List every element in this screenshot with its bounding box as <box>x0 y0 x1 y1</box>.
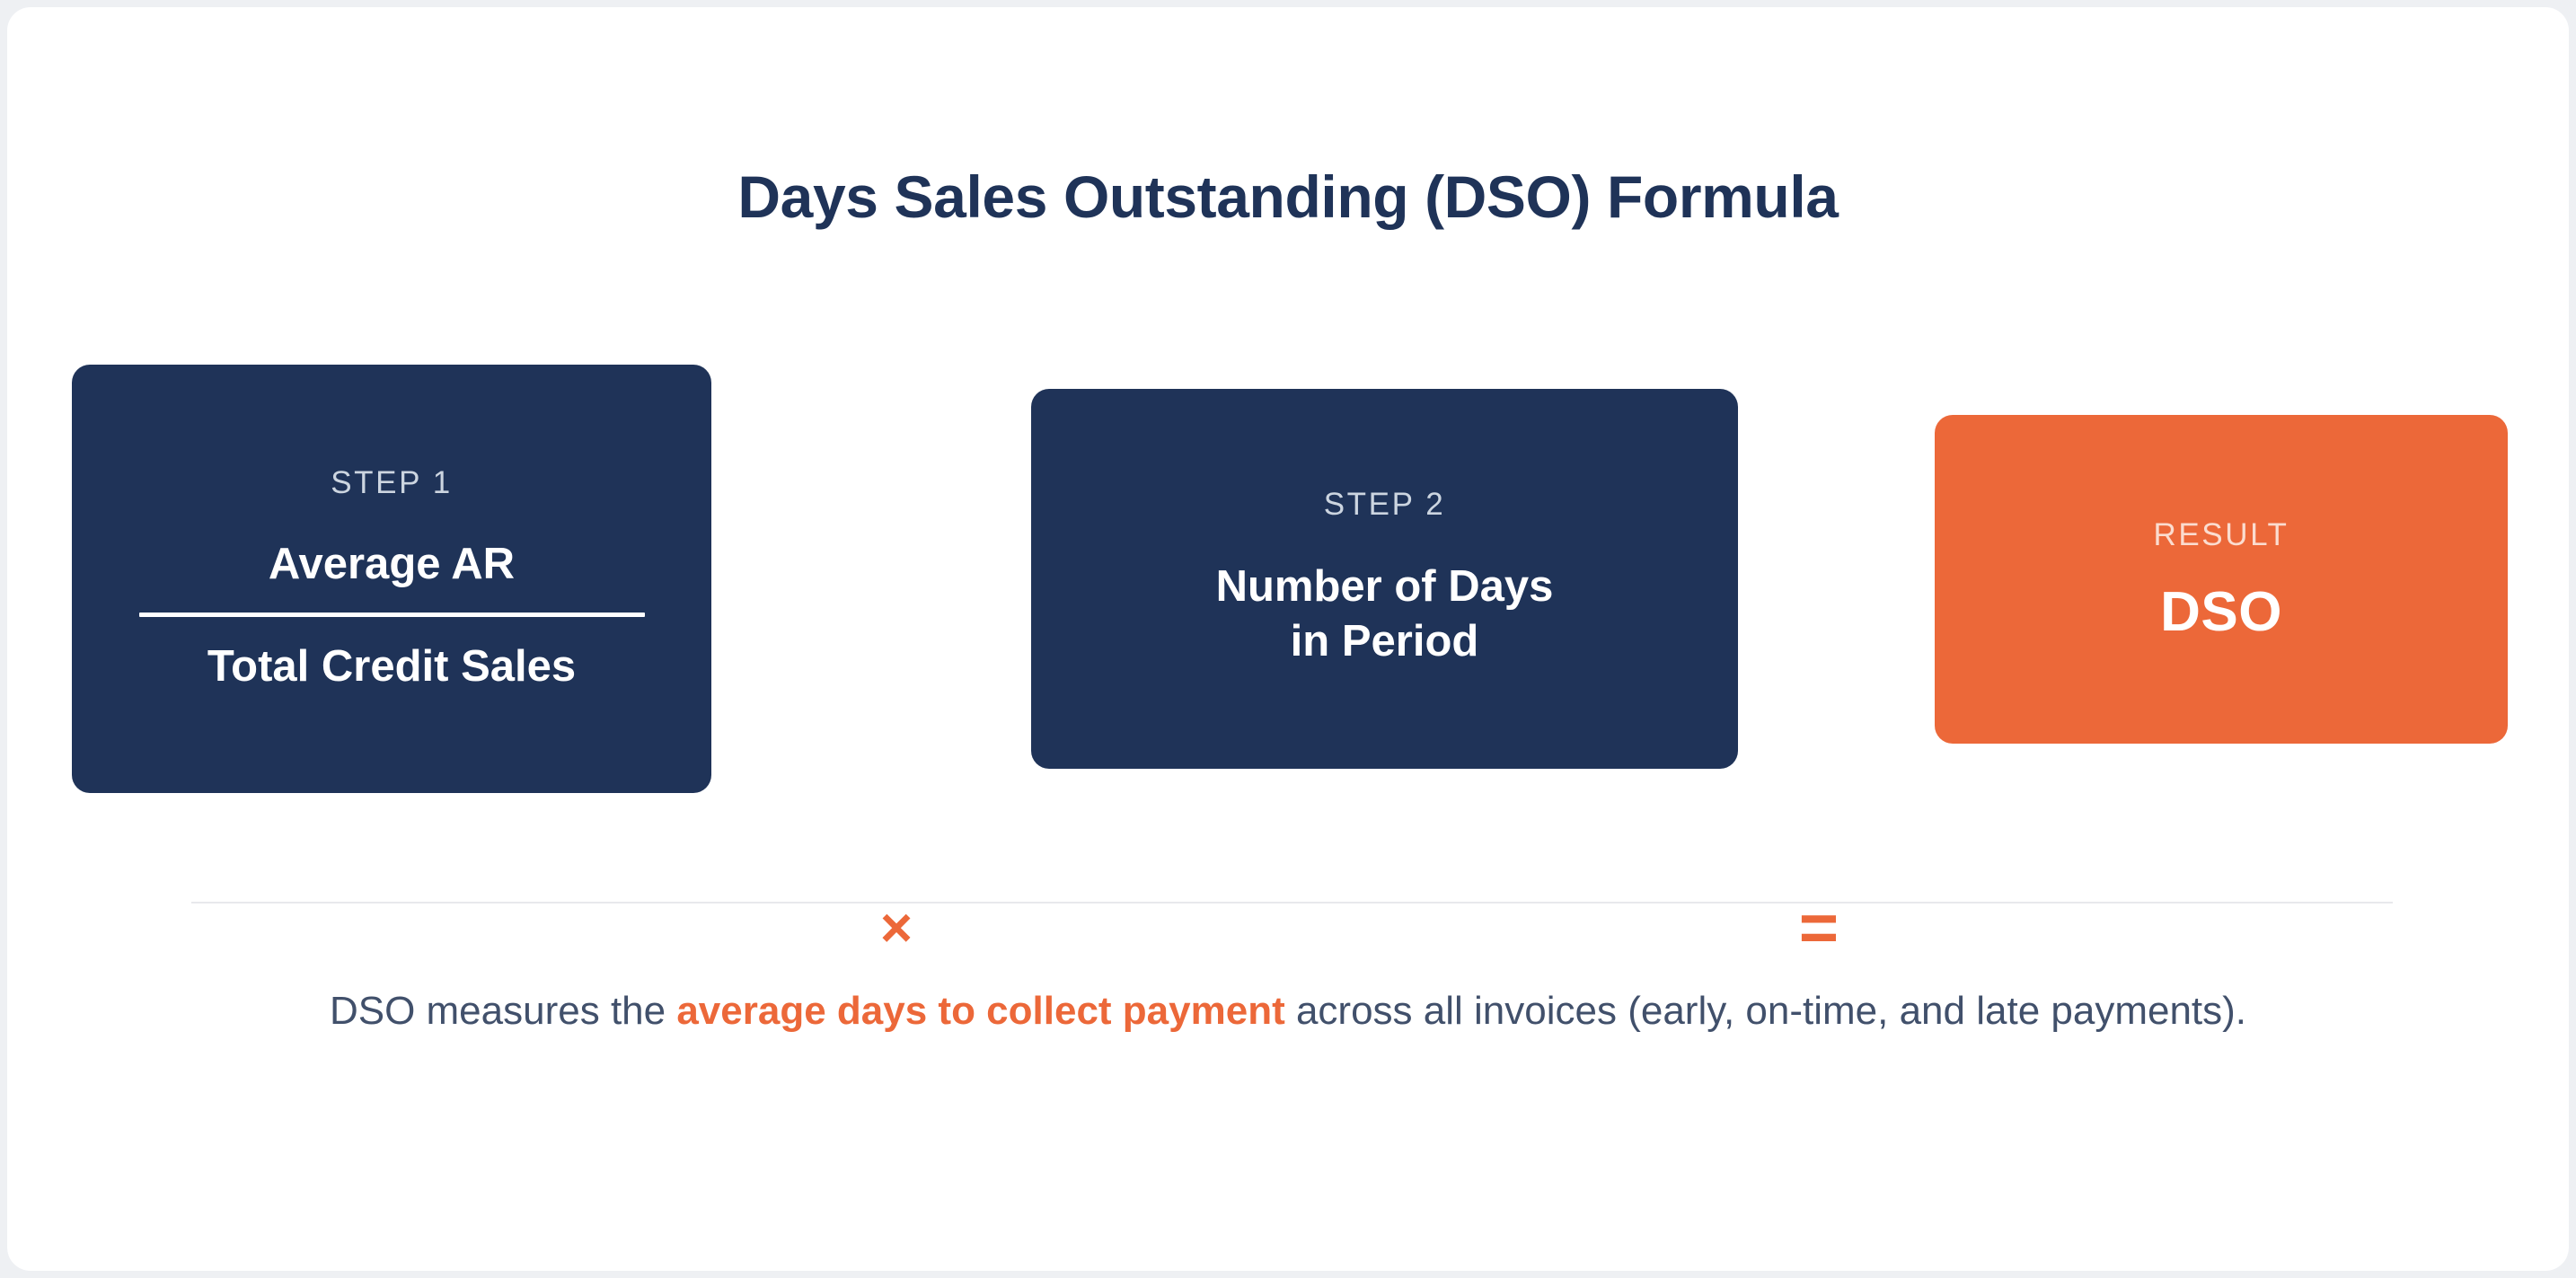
equals-icon: = <box>1769 895 1868 963</box>
page-title: Days Sales Outstanding (DSO) Formula <box>7 167 2569 226</box>
fraction-bar-icon <box>139 613 645 617</box>
result-card: RESULT DSO <box>1935 415 2508 744</box>
caption-lead: DSO measures the <box>330 989 676 1033</box>
caption-tail: across all invoices (early, on-time, and… <box>1285 989 2246 1033</box>
fraction-numerator: Average AR <box>269 540 515 589</box>
caption-accent: average days to collect payment <box>676 989 1284 1033</box>
formula-card: Days Sales Outstanding (DSO) Formula STE… <box>7 7 2569 1271</box>
result-label: RESULT <box>2153 519 2289 551</box>
step-2-line-1: Number of Days <box>1216 560 1554 614</box>
result-value: DSO <box>2160 585 2282 640</box>
fraction-average-ar-over-credit-sales: Average AR Total Credit Sales <box>108 540 675 692</box>
section-divider <box>191 902 2393 903</box>
step-2-body: Number of Days in Period <box>1216 560 1554 670</box>
formula-row: STEP 1 Average AR Total Credit Sales × S… <box>7 357 2569 806</box>
multiply-icon: × <box>847 901 946 956</box>
step-2-line-2: in Period <box>1216 614 1554 669</box>
fraction-denominator: Total Credit Sales <box>207 642 576 692</box>
step-2-card: STEP 2 Number of Days in Period <box>1031 389 1738 769</box>
step-2-label: STEP 2 <box>1324 489 1446 520</box>
caption: DSO measures the average days to collect… <box>282 982 2294 1042</box>
step-1-card: STEP 1 Average AR Total Credit Sales <box>72 365 711 793</box>
step-1-label: STEP 1 <box>331 467 453 498</box>
